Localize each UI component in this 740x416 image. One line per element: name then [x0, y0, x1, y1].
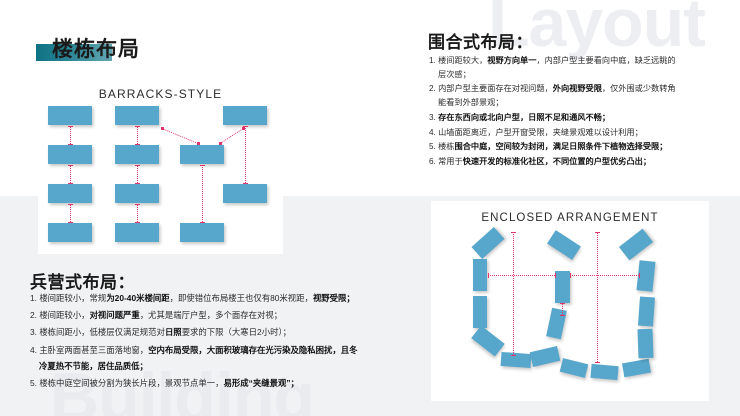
connector-tick: [243, 183, 248, 184]
connector-line: [202, 165, 203, 222]
connector-tick: [161, 127, 164, 130]
list-item: 5. 楼栋中庭空间被分割为狭长片段，景观节点单一，易形成“夹缝景观”；: [30, 375, 420, 391]
connector-line: [488, 275, 555, 276]
list-item-text: 主卧室两面甚至三面落地窗，: [39, 345, 148, 355]
building-block: [48, 106, 92, 125]
list-item: 1. 楼间距较大，视野方向单一，内部户型主要看向中庭，缺乏远眺的层次感；: [429, 54, 729, 81]
list-item-text: 空内布局受限，大面积玻璃存在光污染及隐私困扰，且冬: [148, 345, 357, 355]
barracks-layout-list: 1. 楼间距较小，常规为20-40米楼间距，即使错位布局楼王也仅有80米视距，视…: [30, 290, 420, 392]
list-item-text: 视野受限；: [313, 293, 355, 303]
enclosed-diagram-card: ENCLOSED ARRANGEMENT: [431, 201, 709, 401]
connector-tick: [135, 183, 140, 184]
connector-tick: [560, 303, 565, 304]
list-item-text: 对视问题严重: [90, 310, 140, 320]
list-item-text: 要求的下限（大寒日2小时）；: [182, 327, 291, 337]
connector-tick: [511, 232, 516, 233]
list-item: 2. 楼间距较小，对视问题严重，尤其是端厅户型，多个面存在对视；: [30, 307, 420, 323]
list-item-text: 内部户型主要面存在对视问题，: [438, 84, 553, 93]
list-item-text: 楼栋: [438, 142, 454, 151]
connector-line: [137, 204, 138, 222]
barracks-diagram-card: BARRACKS-STYLE: [38, 78, 283, 254]
connector-tick: [242, 127, 245, 130]
connector-tick: [595, 362, 600, 363]
connector-tick: [135, 126, 140, 127]
list-item-text: 视野方向单一: [487, 56, 536, 65]
building-block: [590, 364, 618, 380]
list-item-text: 楼栋间距小，低楼层仅满足规范对: [39, 327, 165, 337]
list-item: 2. 内部户型主要面存在对视问题，外向视野受限，仅外围或少数转角能看到外部景观；: [429, 82, 729, 109]
list-item-number: 3.: [30, 327, 39, 337]
list-item-text: 快速开发的标准化社区，不同位置的户型优劣凸出；: [463, 157, 651, 166]
building-block: [180, 223, 224, 242]
list-item-text: 楼间距较大，: [438, 56, 487, 65]
enclosed-layout-heading: 围合式布局：: [428, 28, 533, 53]
list-item-text: ，仅外围或少数转角: [602, 84, 676, 93]
list-item-text: 外向视野受限: [553, 84, 602, 93]
list-item-number: 5.: [429, 142, 438, 151]
building-block: [560, 358, 589, 378]
building-block: [473, 259, 487, 291]
list-item: 4. 主卧室两面甚至三面落地窗，空内布局受限，大面积玻璃存在光污染及隐私困扰，且…: [30, 342, 420, 374]
connector-tick: [197, 142, 200, 145]
connector-tick: [570, 273, 571, 278]
list-item-text: ，尤其是端厅户型，多个面存在对视；: [140, 310, 282, 320]
building-block: [501, 352, 532, 368]
list-item-text: 楼间距较小，: [39, 310, 89, 320]
list-item-number: 1.: [429, 56, 438, 65]
list-item-number: 5.: [30, 378, 39, 388]
connector-tick: [135, 165, 140, 166]
building-block: [637, 329, 653, 359]
connector-tick: [68, 183, 73, 184]
list-item-number: 1.: [30, 293, 39, 303]
connector-line: [513, 232, 514, 355]
connector-tick: [135, 204, 140, 205]
list-item-text: 存在东西向或北向户型，日照不足和通风不畅；: [438, 113, 610, 122]
list-item-text: 冷夏热不节能，居住品质低；: [39, 361, 148, 371]
list-item-text: 日照: [165, 327, 182, 337]
building-block: [115, 184, 159, 203]
connector-tick: [135, 144, 140, 145]
list-item-number: 4.: [429, 128, 438, 137]
connector-line: [562, 303, 563, 315]
slide-canvas: Layout Building 楼栋布局 BARRACKS-STYLE 围合式布…: [0, 0, 740, 416]
list-item: 5. 楼栋围合中庭，空间较为封闭，满足日照条件下植物选择受限；: [429, 140, 729, 154]
list-item-text: 楼间距较小，常规: [39, 293, 106, 303]
connector-line: [220, 128, 244, 144]
connector-line: [70, 204, 71, 222]
connector-tick: [595, 232, 600, 233]
connector-tick: [68, 144, 73, 145]
building-block: [115, 223, 159, 242]
connector-line: [70, 126, 71, 144]
connector-tick: [555, 273, 556, 278]
building-block: [622, 359, 651, 377]
list-item-text: 能看到外部景观；: [438, 98, 504, 107]
connector-line: [245, 126, 246, 183]
connector-tick: [511, 355, 516, 356]
list-item: 3. 存在东西向或北向户型，日照不足和通风不畅；: [429, 111, 729, 125]
connector-tick: [219, 142, 222, 145]
section-title-text: 楼栋布局: [52, 33, 140, 63]
building-block: [471, 227, 504, 259]
list-item-text: 层次感；: [438, 70, 471, 79]
connector-line: [70, 165, 71, 183]
building-block: [619, 229, 653, 261]
connector-tick: [68, 126, 73, 127]
list-item-text: ，内部户型主要看向中庭，缺乏远眺的: [536, 56, 675, 65]
building-block: [180, 145, 224, 164]
connector-line: [137, 126, 138, 144]
list-item-number: 2.: [30, 310, 39, 320]
building-block: [473, 296, 487, 328]
list-item-number: 3.: [429, 113, 438, 122]
connector-tick: [68, 165, 73, 166]
building-block: [48, 145, 92, 164]
building-block: [115, 145, 159, 164]
connector-tick: [200, 222, 205, 223]
building-block: [547, 230, 581, 260]
list-item-text: 为20-40米楼间距: [106, 293, 169, 303]
building-block: [223, 184, 267, 203]
enclosed-diagram-title: ENCLOSED ARRANGEMENT: [431, 212, 709, 224]
list-item-text: 常用于: [438, 157, 463, 166]
building-block: [48, 184, 92, 203]
list-item-number: 4.: [30, 345, 39, 355]
list-item: 3. 楼栋间距小，低楼层仅满足规范对日照要求的下限（大寒日2小时）；: [30, 324, 420, 340]
connector-tick: [135, 222, 140, 223]
building-block: [471, 325, 504, 356]
list-item-number: 6.: [429, 157, 438, 166]
barracks-diagram-title: BARRACKS-STYLE: [38, 87, 283, 101]
connector-line: [597, 232, 598, 362]
connector-line: [162, 128, 198, 144]
connector-tick: [639, 273, 640, 278]
list-item: 6. 常用于快速开发的标准化社区，不同位置的户型优劣凸出；: [429, 155, 729, 169]
connector-tick: [68, 222, 73, 223]
connector-line: [570, 275, 639, 276]
building-block: [223, 106, 267, 125]
connector-line: [137, 165, 138, 183]
list-item-text: ，即使错位布局楼王也仅有80米视距，: [170, 293, 313, 303]
list-item-text: 易形成“夹缝景观”；: [224, 378, 299, 388]
building-block: [638, 297, 655, 327]
connector-tick: [488, 273, 489, 278]
list-item-number: 2.: [429, 84, 438, 93]
building-block: [546, 308, 567, 339]
list-item: 1. 楼间距较小，常规为20-40米楼间距，即使错位布局楼王也仅有80米视距，视…: [30, 290, 420, 306]
list-item-text: 楼栋中庭空间被分割为狭长片段，景观节点单一，: [39, 378, 223, 388]
building-block: [115, 106, 159, 125]
building-block: [48, 223, 92, 242]
building-block: [555, 271, 570, 303]
connector-tick: [68, 204, 73, 205]
building-block: [530, 346, 561, 367]
connector-tick: [200, 165, 205, 166]
list-item-text: 山墙面距离近，户型开窗受限，夹缝景观难以设计利用；: [438, 128, 643, 137]
list-item-text: 围合中庭，空间较为封闭，满足日照条件下植物选择受限；: [455, 142, 668, 151]
enclosed-layout-list: 1. 楼间距较大，视野方向单一，内部户型主要看向中庭，缺乏远眺的层次感；2. 内…: [429, 54, 729, 170]
connector-tick: [560, 315, 565, 316]
list-item: 4. 山墙面距离近，户型开窗受限，夹缝景观难以设计利用；: [429, 126, 729, 140]
